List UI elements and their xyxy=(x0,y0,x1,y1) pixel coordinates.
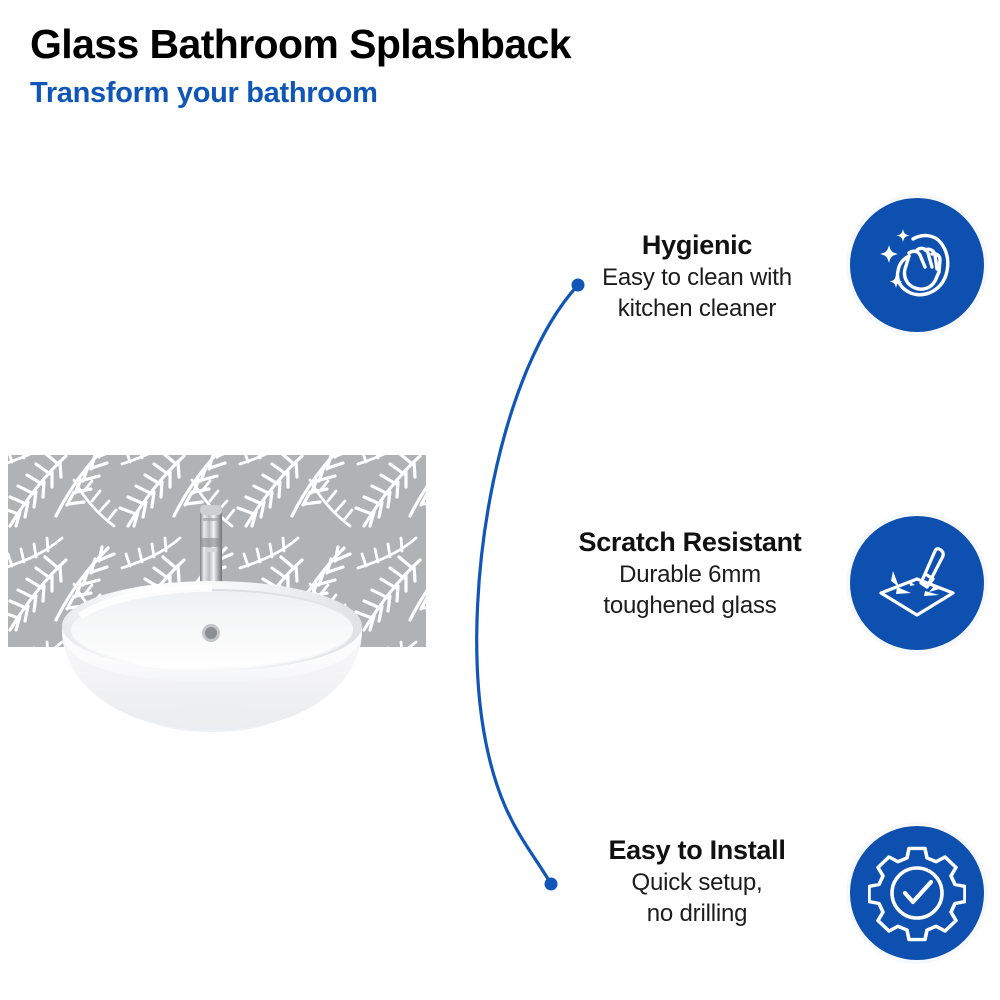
header: Glass Bathroom Splashback Transform your… xyxy=(30,18,930,113)
feature-title: Hygienic xyxy=(547,228,847,262)
feature-scratch-resistant: Scratch Resistant Durable 6mm toughened … xyxy=(540,525,840,621)
feature-badge-easy-to-install xyxy=(846,822,988,964)
feature-hygienic: Hygienic Easy to clean with kitchen clea… xyxy=(547,228,847,324)
badge-circle xyxy=(850,198,984,332)
feature-badge-hygienic xyxy=(846,194,988,336)
feature-description: Durable 6mm toughened glass xyxy=(540,559,840,621)
feature-description: Quick setup, no drilling xyxy=(547,867,847,929)
badge-circle xyxy=(850,826,984,960)
feature-description: Easy to clean with kitchen cleaner xyxy=(547,262,847,324)
feature-description-line: Quick setup, xyxy=(547,867,847,898)
gear-checkmark-icon xyxy=(868,844,966,942)
badge-circle xyxy=(850,516,984,650)
infographic-page: Glass Bathroom Splashback Transform your… xyxy=(0,0,1000,1000)
page-subtitle: Transform your bathroom xyxy=(30,73,930,113)
page-title: Glass Bathroom Splashback xyxy=(30,18,930,70)
feature-description-line: Durable 6mm xyxy=(540,559,840,590)
feature-easy-to-install: Easy to Install Quick setup, no drilling xyxy=(547,833,847,929)
feature-badge-scratch-resistant xyxy=(846,512,988,654)
feature-title: Scratch Resistant xyxy=(540,525,840,559)
wash-basin xyxy=(62,581,362,732)
feature-description-line: no drilling xyxy=(547,898,847,929)
hand-wiping-sparkle-icon xyxy=(869,217,965,313)
feature-title: Easy to Install xyxy=(547,833,847,867)
knife-impact-surface-icon xyxy=(869,535,965,631)
product-image xyxy=(0,430,440,930)
feature-description-line: Easy to clean with xyxy=(547,262,847,293)
feature-description-line: toughened glass xyxy=(540,590,840,621)
feature-description-line: kitchen cleaner xyxy=(547,293,847,324)
